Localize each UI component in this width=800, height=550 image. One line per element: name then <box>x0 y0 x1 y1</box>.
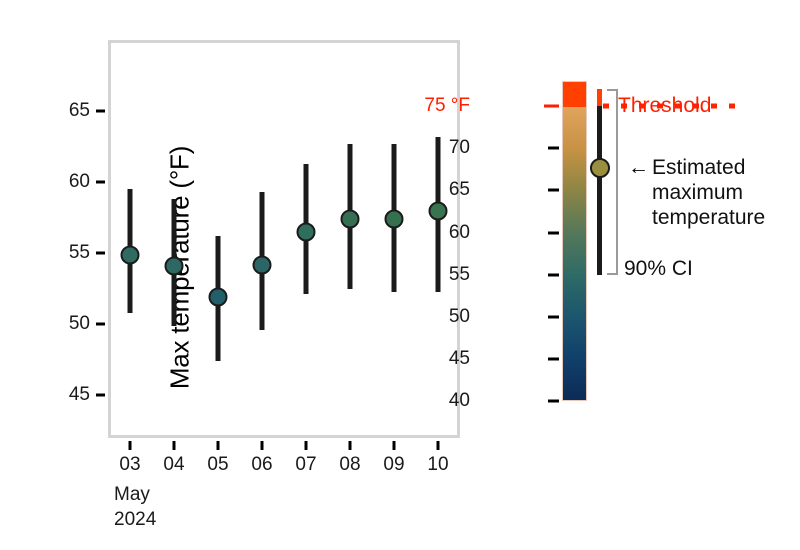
y-tick-mark <box>96 252 105 255</box>
y-tick-mark <box>96 323 105 326</box>
data-point <box>341 210 360 229</box>
x-tick-mark <box>173 441 176 450</box>
colorbar-tick-mark <box>548 357 559 360</box>
colorbar-tick-label: 45 <box>380 348 470 370</box>
x-tick-mark <box>305 441 308 450</box>
legend-ci-bar-below-threshold <box>597 106 602 274</box>
left-arrow-icon: ← <box>628 156 649 180</box>
data-point <box>253 255 272 274</box>
x-tick-label: 03 <box>119 454 140 476</box>
colorbar-threshold-label: 75 °F <box>380 95 470 117</box>
data-point <box>121 245 140 264</box>
colorbar-tick-mark <box>544 105 559 108</box>
data-point <box>209 288 228 307</box>
colorbar-tick-mark <box>548 400 559 403</box>
colorbar-tick-label: 55 <box>380 264 470 286</box>
colorbar-tick-label: 60 <box>380 222 470 244</box>
colorbar-gradient <box>562 81 587 401</box>
data-point <box>297 222 316 241</box>
colorbar-tick-label: 50 <box>380 306 470 328</box>
colorbar-tick-mark <box>548 231 559 234</box>
legend: 75 °F70656055504540 Threshold ← Estimate… <box>470 40 800 440</box>
colorbar-tick-mark <box>548 189 559 192</box>
legend-ci-bar-above-threshold <box>597 89 602 106</box>
colorbar-tick-mark <box>548 315 559 318</box>
x-tick-label: 06 <box>251 454 272 476</box>
x-tick-label: 05 <box>207 454 228 476</box>
estimate-label: Estimated maximum temperature <box>652 155 765 230</box>
data-point <box>429 201 448 220</box>
ci-label: 90% CI <box>624 257 693 281</box>
x-tick-label: 10 <box>427 454 448 476</box>
colorbar-tick-label: 65 <box>380 179 470 201</box>
x-tick-mark <box>437 441 440 450</box>
colorbar-tick-mark <box>548 147 559 150</box>
x-tick-label: 04 <box>163 454 184 476</box>
y-tick-mark <box>96 181 105 184</box>
legend-estimate-dot <box>590 158 610 178</box>
colorbar-tick-mark <box>548 273 559 276</box>
ci-bracket <box>607 89 618 274</box>
x-tick-mark <box>217 441 220 450</box>
temperature-forecast-chart: Max temperature (°F) 4550556065 03040506… <box>0 0 800 550</box>
data-point <box>165 257 184 276</box>
colorbar-tick-label: 40 <box>380 390 470 412</box>
colorbar-tick-label: 70 <box>380 137 470 159</box>
y-tick-mark <box>96 110 105 113</box>
threshold-label: Threshold <box>618 94 711 118</box>
x-tick-label: 09 <box>383 454 404 476</box>
x-tick-mark <box>349 441 352 450</box>
x-axis-sub-label: May 2024 <box>114 482 156 532</box>
x-tick-mark <box>261 441 264 450</box>
y-tick-mark <box>96 394 105 397</box>
x-tick-label: 07 <box>295 454 316 476</box>
x-tick-label: 08 <box>339 454 360 476</box>
x-tick-mark <box>129 441 132 450</box>
x-tick-mark <box>393 441 396 450</box>
